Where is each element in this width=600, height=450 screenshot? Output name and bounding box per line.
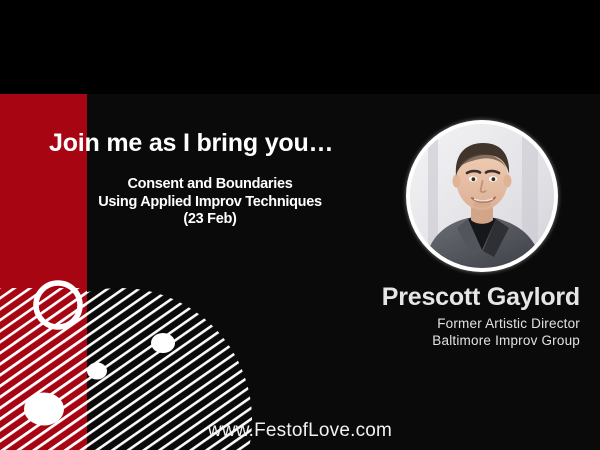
speaker-role: Former Artistic Director xyxy=(250,316,580,332)
session-details: Consent and Boundaries Using Applied Imp… xyxy=(40,176,380,229)
footer-website-url[interactable]: www.FestofLove.com xyxy=(0,420,600,442)
white-dot-small xyxy=(87,363,107,380)
speaker-avatar xyxy=(406,120,558,272)
session-title-line-1: Consent and Boundaries xyxy=(40,176,380,194)
session-title-line-2: Using Applied Improv Techniques xyxy=(40,194,380,212)
speaker-organization: Baltimore Improv Group xyxy=(250,333,580,349)
festival-of-love-promo-poster: THE FESTIVAL OF LOVE 2019 xyxy=(0,0,600,450)
white-ring-outline xyxy=(36,283,80,327)
session-date: (23 Feb) xyxy=(40,211,380,229)
speaker-name: Prescott Gaylord xyxy=(250,283,580,312)
headline-text: Join me as I bring you… xyxy=(49,129,333,158)
speaker-photo-illustration xyxy=(410,124,554,268)
white-dot-medium xyxy=(151,333,175,353)
header-band xyxy=(0,0,600,94)
speaker-photo xyxy=(410,124,554,268)
